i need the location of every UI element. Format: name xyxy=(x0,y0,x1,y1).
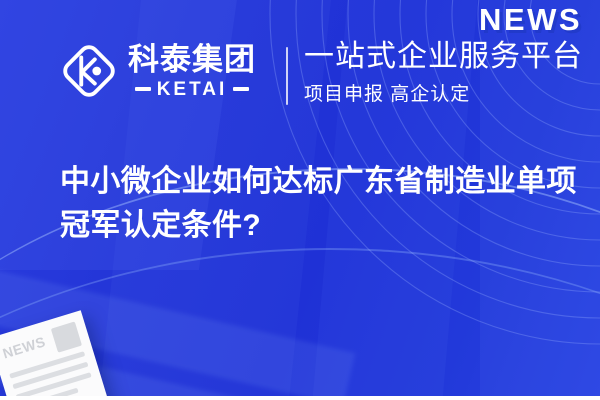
newspaper-thumbnail-icon xyxy=(51,321,82,352)
tagline-primary: 一站式企业服务平台 xyxy=(304,40,583,74)
bottom-white-strip xyxy=(0,396,600,400)
brand-name-en-row: KETAI xyxy=(135,80,250,99)
tagline-group: 一站式企业服务平台 项目申报 高企认定 xyxy=(304,40,583,106)
ketai-diamond-logo-icon xyxy=(58,40,120,102)
brand-dash-left-icon xyxy=(135,87,151,91)
news-banner: NEWS 科泰集团 KETAI 一站式企业服务平台 项目申报 高企认定 xyxy=(0,0,600,400)
news-corner-label: NEWS xyxy=(479,4,582,35)
newspaper-masthead-text: NEWS xyxy=(1,334,47,360)
header-divider xyxy=(286,47,288,105)
brand-wordmark: 科泰集团 KETAI xyxy=(128,44,256,99)
brand-name-cn: 科泰集团 xyxy=(128,44,256,75)
brand-logo-group[interactable]: 科泰集团 KETAI xyxy=(58,40,256,102)
brand-name-en: KETAI xyxy=(157,80,228,99)
brand-dash-right-icon xyxy=(233,87,249,91)
headline-title: 中小微企业如何达标广东省制造业单项冠军认定条件? xyxy=(60,160,580,249)
tagline-secondary: 项目申报 高企认定 xyxy=(304,79,583,106)
